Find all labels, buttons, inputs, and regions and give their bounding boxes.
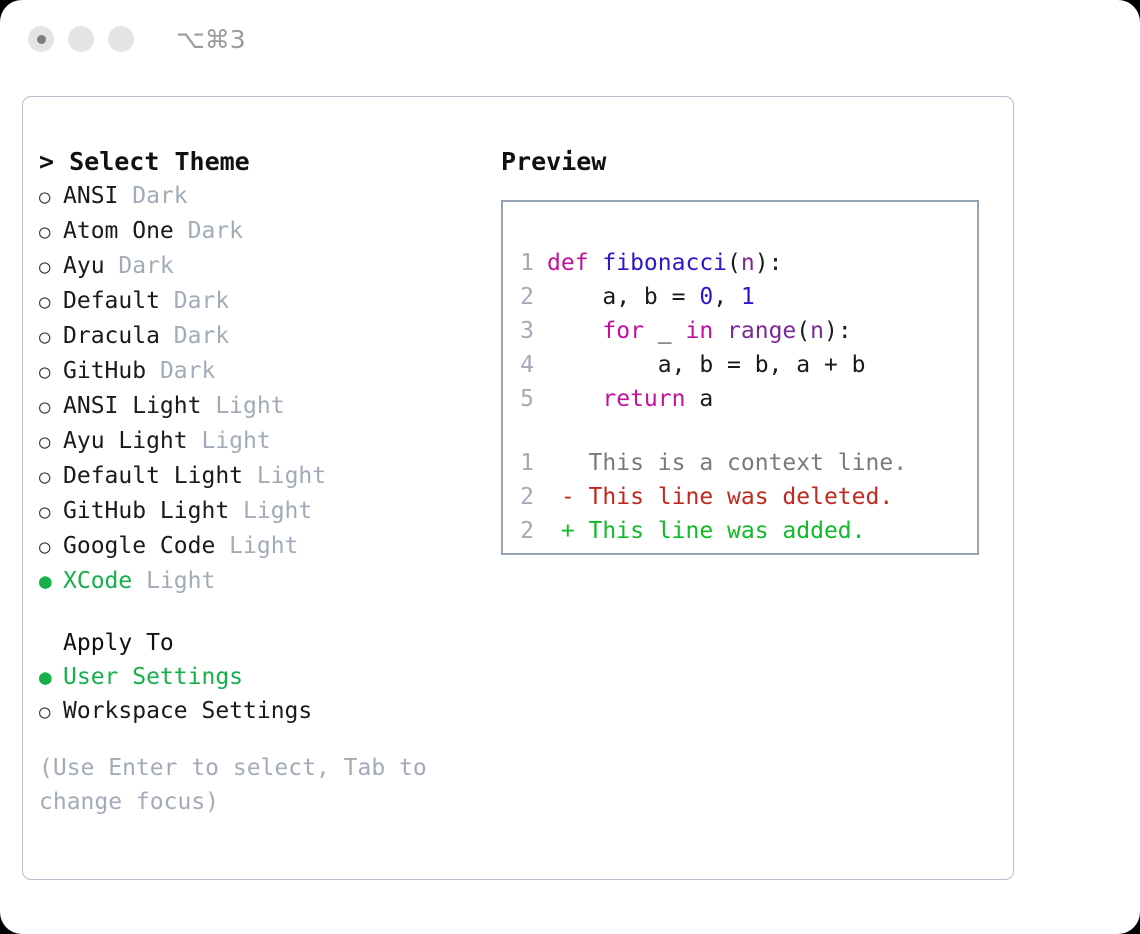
window-dot-3[interactable] [108,26,134,52]
code-token-txt [547,318,602,344]
keyboard-shortcut-label: ⌥⌘3 [176,25,246,54]
code-line-number: 4 [503,348,547,382]
main-panel: > Select Theme ○ANSI Dark○Atom One Dark○… [22,96,1014,880]
select-theme-header: > Select Theme [39,145,499,179]
diff-line-number: 2 [503,480,547,514]
code-line-content: a, b = b, a + b [547,348,866,382]
code-token-num: 1 [741,284,755,310]
code-token-punc: ( [727,250,741,276]
diff-line-text: This line was added. [575,514,866,548]
code-line: 5 return a [503,382,977,416]
theme-option-ayu[interactable]: ○Ayu Dark [39,249,499,284]
theme-option-xcode[interactable]: ●XCode Light [39,564,499,598]
code-line: 2 a, b = 0, 1 [503,280,977,314]
diff-marker: + [547,514,575,548]
code-line-number: 3 [503,314,547,348]
window-dot-active[interactable] [28,26,54,52]
code-token-txt: a, b = [547,284,699,310]
apply-to-list[interactable]: ●User Settings○Workspace Settings [39,660,499,729]
preview-header: Preview [501,145,997,179]
code-line-number: 2 [503,280,547,314]
theme-option-dracula[interactable]: ○Dracula Dark [39,319,499,354]
theme-option-atom-one[interactable]: ○Atom One Dark [39,214,499,249]
theme-option-google-code[interactable]: ○Google Code Light [39,529,499,564]
theme-option-label: Ayu [63,249,118,283]
code-line-number: 5 [503,382,547,416]
radio-unselected-icon: ○ [39,180,63,214]
theme-variant-badge: Dark [160,354,215,388]
diff-line-ctx: 1 This is a context line. [503,446,977,480]
code-preview: 1def fibonacci(n):2 a, b = 0, 13 for _ i… [503,246,977,416]
radio-unselected-icon: ○ [39,390,63,424]
code-line-content: def fibonacci(n): [547,246,782,280]
apply-to-option-label: User Settings [63,660,243,694]
code-diff-separator [503,416,977,446]
code-token-txt: _ [644,318,686,344]
radio-selected-icon: ● [39,660,63,694]
theme-variant-badge: Light [257,459,326,493]
theme-option-label: Google Code [63,529,229,563]
code-token-kw: for [602,318,644,344]
preview-column: Preview 1def fibonacci(n):2 a, b = 0, 13… [501,145,997,555]
code-token-kw: def [547,250,602,276]
theme-option-ansi[interactable]: ○ANSI Dark [39,179,499,214]
theme-option-label: Dracula [63,319,174,353]
radio-unselected-icon: ○ [39,530,63,564]
diff-line-add: 2 + This line was added. [503,514,977,548]
code-token-txt: , [713,284,741,310]
apply-to-label: Apply To [39,626,499,660]
radio-unselected-icon: ○ [39,320,63,354]
theme-option-label: XCode [63,564,146,598]
theme-variant-badge: Light [243,494,312,528]
theme-option-label: Default Light [63,459,257,493]
theme-variant-badge: Light [229,529,298,563]
radio-unselected-icon: ○ [39,215,63,249]
theme-option-label: Default [63,284,174,318]
code-token-param: n [810,318,824,344]
code-line-content: for _ in range(n): [547,314,852,348]
code-token-txt [547,386,602,412]
theme-variant-badge: Dark [174,319,229,353]
diff-line-text: This line was deleted. [575,480,894,514]
spacer-before-hint [39,729,499,751]
theme-option-github-light[interactable]: ○GitHub Light Light [39,494,499,529]
theme-option-github[interactable]: ○GitHub Dark [39,354,499,389]
code-line: 4 a, b = b, a + b [503,348,977,382]
preview-box: 1def fibonacci(n):2 a, b = 0, 13 for _ i… [501,200,979,555]
radio-unselected-icon: ○ [39,495,63,529]
code-token-txt: a [685,386,713,412]
theme-option-label: ANSI [63,179,132,213]
keyboard-hint-text: (Use Enter to select, Tab to change focu… [39,751,459,819]
code-line: 1def fibonacci(n): [503,246,977,280]
theme-list[interactable]: ○ANSI Dark○Atom One Dark○Ayu Dark○Defaul… [39,179,499,598]
diff-line-number: 2 [503,514,547,548]
diff-marker: - [547,480,575,514]
radio-unselected-icon: ○ [39,695,63,729]
code-line-content: return a [547,382,713,416]
theme-option-label: ANSI Light [63,389,215,423]
theme-option-ansi-light[interactable]: ○ANSI Light Light [39,389,499,424]
window-dot-active-inner [37,35,46,44]
diff-line-number: 1 [503,446,547,480]
theme-variant-badge: Dark [174,284,229,318]
window-controls [28,26,134,52]
apply-to-option-workspace-settings[interactable]: ○Workspace Settings [39,694,499,729]
theme-variant-badge: Light [201,424,270,458]
app-window: ⌥⌘3 > Select Theme ○ANSI Dark○Atom One D… [0,0,1140,934]
theme-variant-badge: Light [146,564,215,598]
code-line-content: a, b = 0, 1 [547,280,755,314]
theme-variant-badge: Light [215,389,284,423]
theme-option-label: GitHub Light [63,494,243,528]
code-token-kw: in [685,318,713,344]
code-token-param: n [741,250,755,276]
diff-marker [547,446,575,480]
code-line: 3 for _ in range(n): [503,314,977,348]
code-token-bi: range [727,318,796,344]
theme-variant-badge: Dark [188,214,243,248]
code-token-punc: ): [755,250,783,276]
code-line-number: 1 [503,246,547,280]
theme-variant-badge: Dark [118,249,173,283]
theme-option-ayu-light[interactable]: ○Ayu Light Light [39,424,499,459]
code-token-txt: a, b = b, a + b [547,352,866,378]
theme-option-default-light[interactable]: ○Default Light Light [39,459,499,494]
apply-to-option-user-settings[interactable]: ●User Settings [39,660,499,694]
theme-option-label: GitHub [63,354,160,388]
code-token-fn: fibonacci [602,250,727,276]
radio-unselected-icon: ○ [39,425,63,459]
diff-line-del: 2 - This line was deleted. [503,480,977,514]
diff-line-text: This is a context line. [575,446,907,480]
apply-to-option-label: Workspace Settings [63,694,312,728]
radio-unselected-icon: ○ [39,250,63,284]
code-token-punc: ( [796,318,810,344]
code-token-kw: return [602,386,685,412]
window-dot-2[interactable] [68,26,94,52]
radio-selected-icon: ● [39,564,63,598]
radio-unselected-icon: ○ [39,355,63,389]
code-token-txt [713,318,727,344]
diff-preview: 1 This is a context line.2 - This line w… [503,446,977,548]
radio-unselected-icon: ○ [39,285,63,319]
spacer-after-theme-list [39,598,499,626]
theme-selection-column: > Select Theme ○ANSI Dark○Atom One Dark○… [39,145,499,819]
title-bar: ⌥⌘3 [0,0,1140,78]
radio-unselected-icon: ○ [39,460,63,494]
theme-variant-badge: Dark [132,179,187,213]
theme-option-label: Ayu Light [63,424,201,458]
code-token-num: 0 [699,284,713,310]
theme-option-default[interactable]: ○Default Dark [39,284,499,319]
theme-option-label: Atom One [63,214,188,248]
code-token-punc: ): [824,318,852,344]
